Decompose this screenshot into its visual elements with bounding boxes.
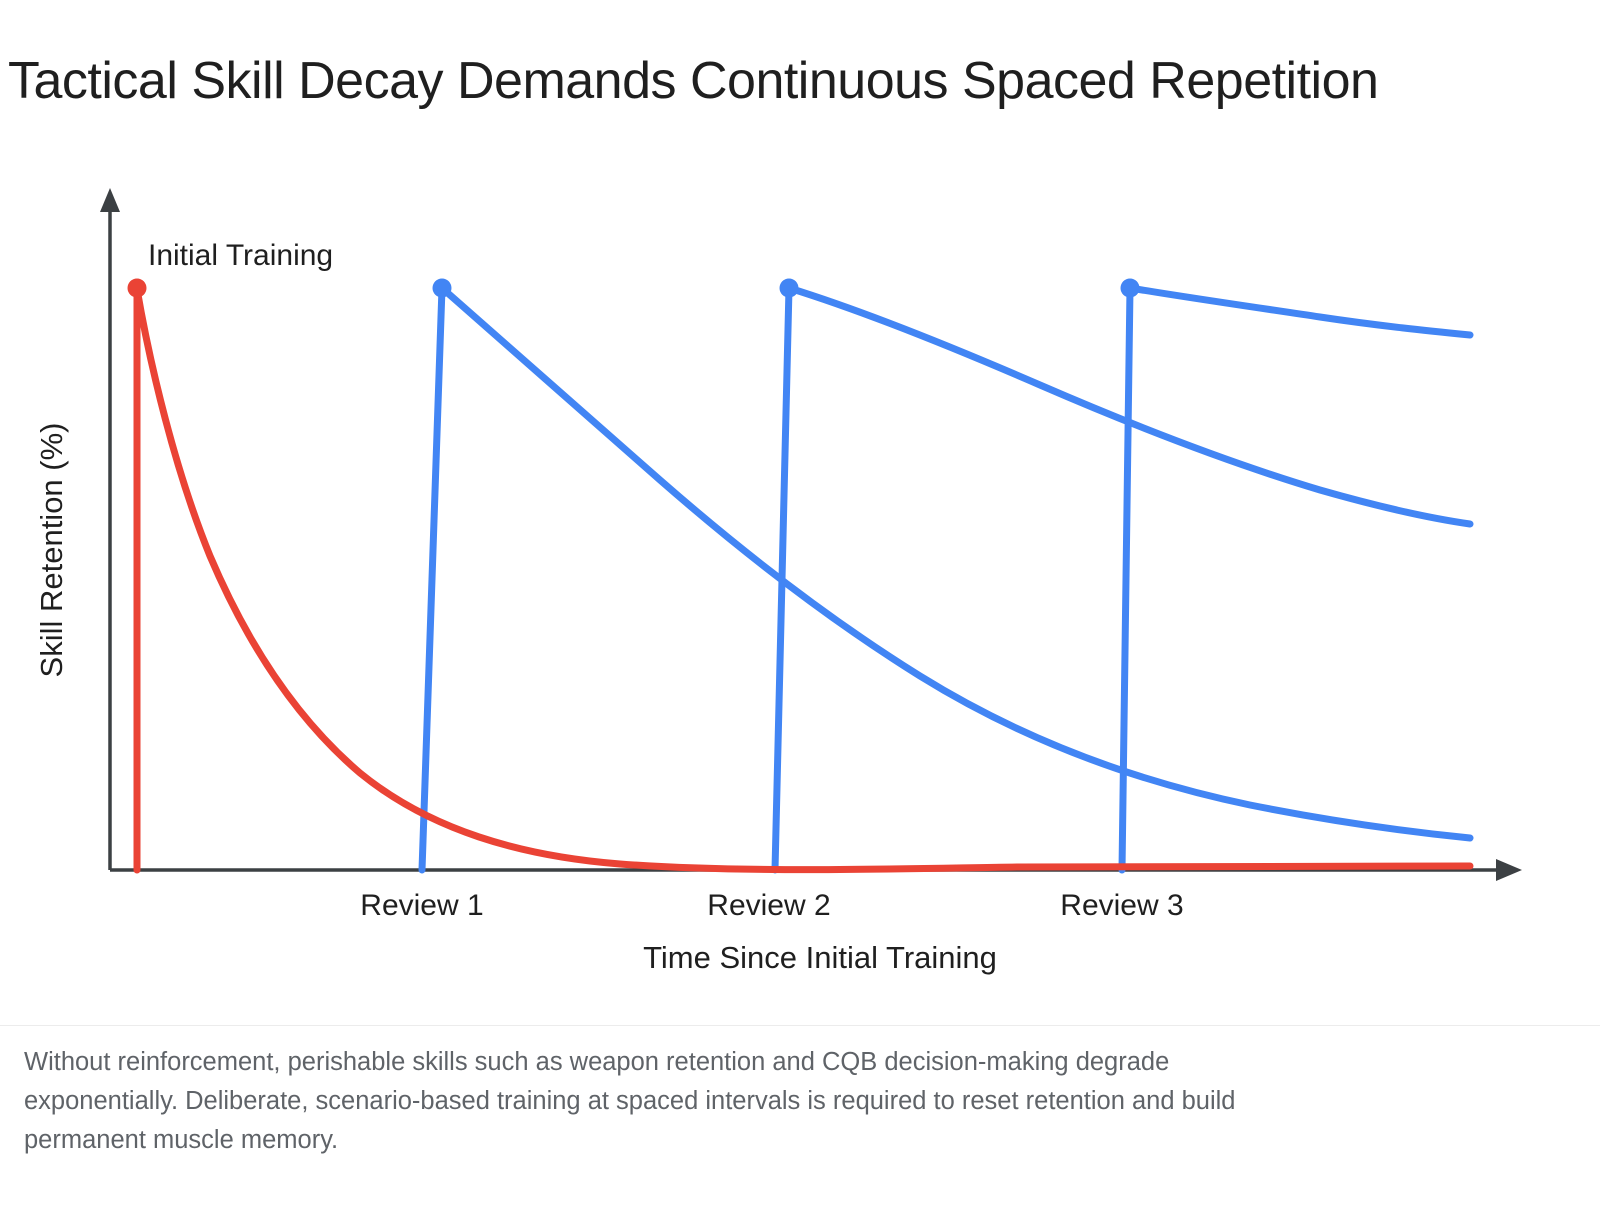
chart-page: Tactical Skill Decay Demands Continuous …	[0, 0, 1600, 1206]
y-axis-arrow-icon	[100, 188, 120, 212]
xtick-label-review-1: Review 1	[360, 889, 483, 922]
review-3-point-marker	[1121, 279, 1140, 298]
series-review-3-curve	[1122, 288, 1470, 870]
x-axis-arrow-icon	[1496, 859, 1522, 881]
annotation-initial-training: Initial Training	[148, 239, 333, 272]
xtick-label-review-3: Review 3	[1060, 889, 1183, 922]
figure-caption: Without reinforcement, perishable skills…	[24, 1043, 1324, 1159]
section-divider	[0, 1025, 1600, 1026]
x-axis-title: Time Since Initial Training	[643, 940, 997, 975]
review-2-point-marker	[780, 279, 799, 298]
series-unreinforced-decay-curve	[137, 289, 1470, 870]
y-axis-title: Skill Retention (%)	[34, 423, 69, 678]
series-review-1-curve	[422, 288, 1470, 870]
xtick-label-review-2: Review 2	[707, 889, 830, 922]
page-title: Tactical Skill Decay Demands Continuous …	[8, 52, 1568, 110]
initial-training-point-marker	[128, 279, 147, 298]
review-1-point-marker	[433, 279, 452, 298]
chart-figure: Initial Training Review 1 Review 2 Revie…	[0, 150, 1600, 1025]
skill-decay-plot: Initial Training Review 1 Review 2 Revie…	[0, 150, 1600, 1025]
